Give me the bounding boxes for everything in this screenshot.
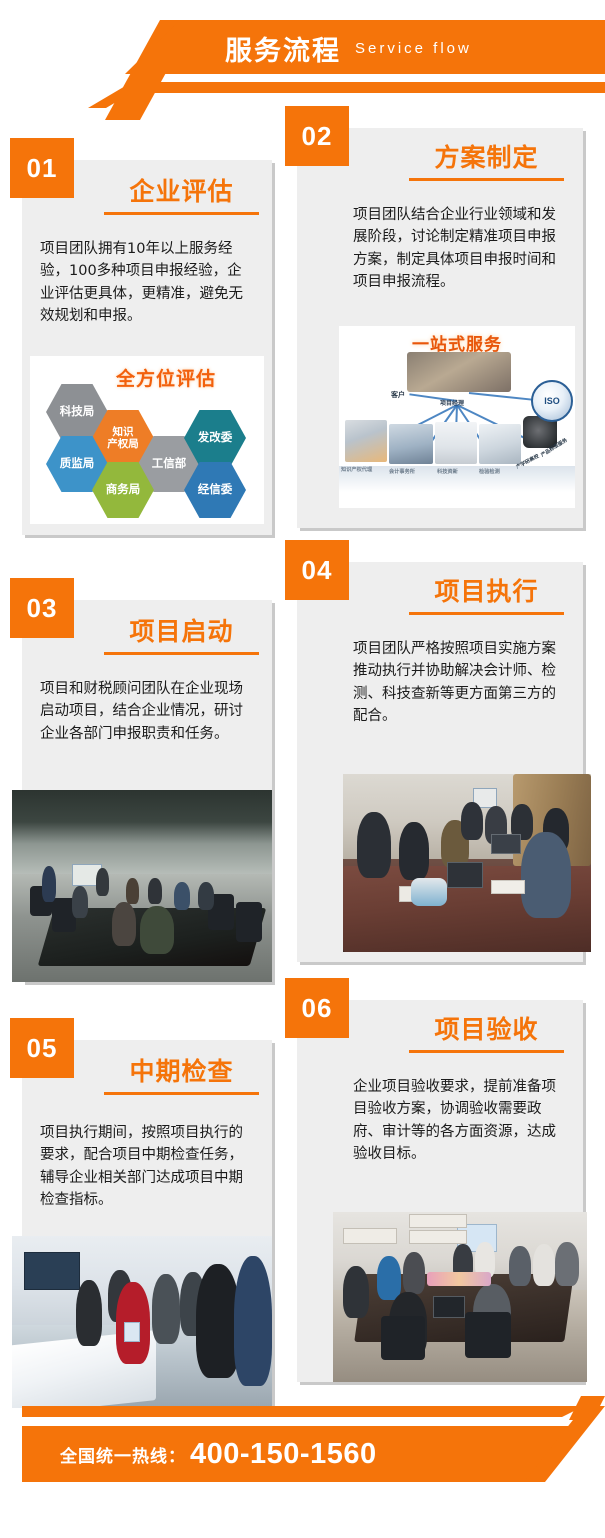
photo-person-5 bbox=[174, 882, 190, 910]
photo-attendee-6 bbox=[509, 1246, 531, 1286]
photo-attendee-3 bbox=[403, 1252, 425, 1294]
header-accent-stripe bbox=[128, 82, 605, 93]
hexagon-assessment-diagram: 全方位评估 科技局 知识产权局 质监局 工信部 商务局 发改委 经信委 bbox=[30, 356, 264, 524]
photo-team-working-meeting bbox=[343, 774, 591, 952]
step-description-02: 项目团队结合企业行业领域和发展阶段，讨论制定精准项目申报方案，制定具体项目申报时… bbox=[353, 204, 567, 294]
photo-person-blue-shirt bbox=[521, 832, 571, 918]
photo-person-d bbox=[461, 802, 483, 840]
step-card-01: 01 企业评估 项目团队拥有10年以上服务经验，100多种项目申报经验，企业评估… bbox=[22, 160, 272, 535]
photo-person-green-jacket bbox=[140, 906, 174, 954]
step-card-03: 03 项目启动 项目和财税顾问团队在企业现场启动项目，结合企业情况，研讨企业各部… bbox=[22, 600, 272, 982]
step-number-badge-06: 06 bbox=[285, 978, 349, 1038]
footer-accent-stripe bbox=[22, 1406, 584, 1417]
photo-laptop-open bbox=[433, 1296, 465, 1318]
photo-attendee-2 bbox=[377, 1256, 401, 1300]
hotline-phone-number[interactable]: 400-150-1560 bbox=[190, 1438, 377, 1471]
step-description-04: 项目团队严格按照项目实施方案推动执行并协助解决会计师、检测、科技查新等更方面第三… bbox=[353, 638, 567, 728]
one-stop-arrow-node-6 bbox=[469, 392, 539, 401]
one-stop-center-group-photo bbox=[407, 352, 511, 392]
step-number-badge-02: 02 bbox=[285, 106, 349, 166]
step-title-06: 项目验收 bbox=[409, 1010, 564, 1053]
step-card-06: 06 项目验收 企业项目验收要求，提前准备项目验收方案，协调验收需要政府、审计等… bbox=[297, 1000, 583, 1382]
photo-wall-frames-mid bbox=[409, 1230, 467, 1244]
photo-person-4 bbox=[148, 878, 162, 904]
one-stop-node-accounting bbox=[389, 424, 433, 464]
photo-meeting-chair-1 bbox=[381, 1316, 425, 1360]
photo-wall-frames-left bbox=[343, 1228, 397, 1244]
one-stop-diagram-base-glow bbox=[339, 466, 575, 492]
photo-document-stack-2 bbox=[491, 880, 525, 894]
photo-person-front bbox=[112, 902, 136, 946]
step-title-03: 项目启动 bbox=[104, 612, 259, 655]
photo-person-3 bbox=[126, 878, 139, 904]
step-number-badge-01: 01 bbox=[10, 138, 74, 198]
photo-laptop-2 bbox=[491, 834, 521, 854]
footer-banner: 全国统一热线： 400-150-1560 bbox=[0, 1404, 605, 1516]
photo-attendee-8 bbox=[555, 1242, 579, 1286]
page-title: 服务流程 bbox=[225, 29, 341, 68]
photo-person-2 bbox=[96, 868, 109, 896]
one-stop-client-label: 客户 bbox=[391, 390, 405, 400]
one-stop-node-ip-agency bbox=[345, 420, 387, 462]
step-title-04: 项目执行 bbox=[409, 572, 564, 615]
one-stop-node-inspection bbox=[479, 424, 521, 464]
photo-visitor-3 bbox=[152, 1274, 180, 1344]
photo-attendee-1 bbox=[343, 1266, 369, 1318]
photo-person-b bbox=[399, 822, 429, 880]
hexagon-diagram-title: 全方位评估 bbox=[116, 364, 216, 391]
step-card-02: 02 方案制定 项目团队结合企业行业领域和发展阶段，讨论制定精准项目申报方案，制… bbox=[297, 128, 583, 528]
one-stop-service-diagram: 一站式服务 客户 项目经理 ISO 知识产权代理 会计事务所 科技资新 检验检测 bbox=[339, 326, 575, 508]
photo-visitor-1 bbox=[76, 1280, 102, 1346]
page-subtitle: Service flow bbox=[355, 40, 472, 57]
photo-wall-frames-top bbox=[409, 1214, 467, 1228]
photo-attendee-7 bbox=[533, 1244, 555, 1286]
photo-ceiling bbox=[12, 790, 272, 874]
one-stop-node-tech-search bbox=[435, 422, 477, 464]
step-number-badge-03: 03 bbox=[10, 578, 74, 638]
step-title-05: 中期检查 bbox=[104, 1052, 259, 1095]
photo-chair-4 bbox=[236, 902, 262, 942]
photo-person-standing bbox=[42, 866, 56, 902]
step-number-badge-04: 04 bbox=[285, 540, 349, 600]
step-description-06: 企业项目验收要求，提前准备项目验收方案，协调验收需要政府、审计等的各方面资源，达… bbox=[353, 1076, 567, 1166]
step-number-badge-05: 05 bbox=[10, 1018, 74, 1078]
step-description-05: 项目执行期间，按照项目执行的要求，配合项目中期检查任务，辅导企业相关部门达成项目… bbox=[40, 1122, 254, 1212]
service-flow-infographic: 服务流程 Service flow 01 企业评估 项目团队拥有10年以上服务经… bbox=[0, 0, 605, 1538]
photo-bag bbox=[411, 878, 447, 906]
step-card-04: 04 项目执行 项目团队严格按照项目实施方案推动执行并协助解决会计师、检测、科技… bbox=[297, 562, 583, 962]
step-description-01: 项目团队拥有10年以上服务经验，100多种项目申报经验，企业评估更具体，更精准，… bbox=[40, 238, 254, 328]
photo-site-inspection-tour bbox=[12, 1236, 272, 1408]
step-title-02: 方案制定 bbox=[409, 138, 564, 181]
one-stop-iso-seal: ISO bbox=[531, 380, 573, 422]
header-banner: 服务流程 Service flow bbox=[0, 0, 605, 108]
header-title-group: 服务流程 Service flow bbox=[225, 26, 472, 70]
one-stop-center-label: 项目经理 bbox=[440, 398, 464, 407]
photo-laptop-1 bbox=[447, 862, 483, 888]
step-card-05: 05 中期检查 项目执行期间，按照项目执行的要求，配合项目中期检查任务，辅导企业… bbox=[22, 1040, 272, 1408]
photo-flowers bbox=[427, 1272, 491, 1286]
hotline-label: 全国统一热线： bbox=[60, 1442, 186, 1467]
photo-person-6 bbox=[198, 882, 214, 910]
step-title-01: 企业评估 bbox=[104, 172, 259, 215]
photo-brochure bbox=[124, 1322, 140, 1342]
photo-meeting-chair-2 bbox=[465, 1312, 511, 1358]
photo-display-monitors bbox=[24, 1252, 80, 1290]
photo-person-a bbox=[357, 812, 391, 878]
step-description-03: 项目和财税顾问团队在企业现场启动项目，结合企业情况，研讨企业各部门申报职责和任务… bbox=[40, 678, 254, 745]
photo-visitor-blue-jacket bbox=[234, 1256, 272, 1386]
footer-hotline-group: 全国统一热线： 400-150-1560 bbox=[60, 1426, 377, 1482]
photo-acceptance-meeting bbox=[333, 1212, 587, 1382]
photo-conference-room-kickoff bbox=[12, 790, 272, 982]
photo-person-1 bbox=[72, 886, 88, 918]
